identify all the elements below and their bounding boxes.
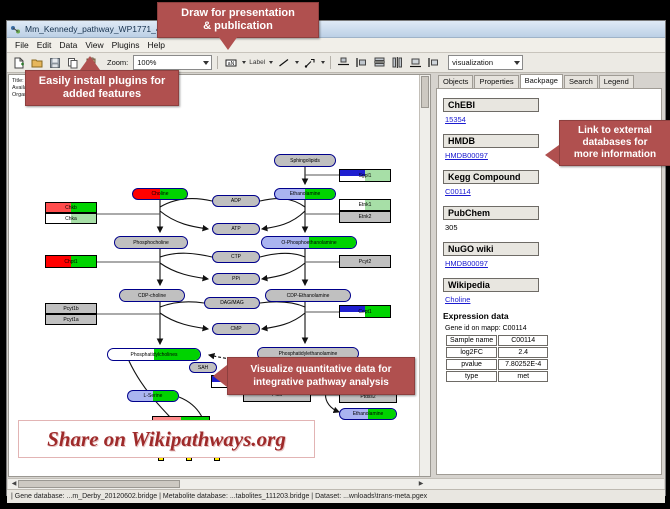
group-icon[interactable] — [426, 55, 441, 70]
backpage-link-wikipedia[interactable]: Choline — [445, 295, 655, 304]
gene-box-cept1[interactable]: Cept1 — [339, 305, 391, 318]
node-ppi[interactable]: PPi — [212, 273, 260, 285]
tab-objects[interactable]: Objects — [438, 75, 473, 88]
node-label: CDP-choline — [138, 293, 166, 299]
node-atp[interactable]: ATP — [212, 223, 260, 235]
chevron-down-icon — [514, 61, 520, 65]
node-label: CTP — [231, 254, 241, 260]
align-left-icon[interactable] — [354, 55, 369, 70]
gene-box-chpt1[interactable]: Chpt1 — [45, 255, 97, 268]
gene-box-pcyt2[interactable]: Pcyt2 — [339, 255, 391, 268]
gene-label: Etnk2 — [359, 214, 372, 220]
node-l-serine-left[interactable]: L-Serine — [127, 390, 179, 402]
backpage-value-pubchem: 305 — [445, 223, 655, 232]
svg-text:aN: aN — [228, 61, 235, 67]
backpage-header-wikipedia: Wikipedia — [443, 278, 539, 292]
callout-visualize-tail — [213, 365, 227, 387]
backpage-header-pubchem: PubChem — [443, 206, 539, 220]
cell-value: 2.4 — [498, 347, 548, 358]
cell-key: type — [446, 371, 497, 382]
arrow-dropdown-icon[interactable] — [321, 61, 325, 64]
gene-id-line: Gene id on mapp: C00114 — [445, 325, 655, 332]
node-cdp-ethanolamine[interactable]: CDP-Ethanolamine — [265, 289, 351, 302]
distribute-vertical-icon[interactable] — [372, 55, 387, 70]
node-label: CDP-Ethanolamine — [287, 293, 330, 299]
gene-label: Sgpl1 — [359, 173, 372, 179]
gene-label: Pcyt2 — [359, 259, 372, 265]
backpage-link-kegg[interactable]: C00114 — [445, 187, 655, 196]
node-label: Choline — [152, 191, 169, 197]
tab-properties[interactable]: Properties — [474, 75, 518, 88]
backpage-header-nugo: NuGO wiki — [443, 242, 539, 256]
node-label: Ethanolamine — [353, 411, 384, 417]
menu-file[interactable]: File — [11, 40, 33, 50]
gene-box-sgpl1[interactable]: Sgpl1 — [339, 169, 391, 182]
node-label: PPi — [232, 276, 240, 282]
table-row: pvalue 7.80252E-4 — [446, 359, 548, 370]
pathway-canvas[interactable]: Title: Availa Organ — [8, 74, 431, 477]
node-choline-top[interactable]: Choline — [132, 188, 188, 200]
line-icon[interactable] — [276, 55, 291, 70]
toolbar-separator — [217, 56, 218, 69]
scroll-right-arrow[interactable]: ▶ — [416, 480, 426, 488]
node-ethanolamine-top[interactable]: Ethanolamine — [274, 188, 336, 200]
callout-link-tail — [545, 145, 559, 165]
cell-key: Sample name — [446, 335, 497, 346]
node-phosphocholine[interactable]: Phosphocholine — [114, 236, 188, 249]
expression-table: Sample name C00114 log2FC 2.4 pvalue 7.8… — [445, 334, 549, 383]
align-top-icon[interactable] — [336, 55, 351, 70]
gene-box-chka[interactable]: Chka — [45, 213, 97, 224]
node-label: CMP — [230, 326, 241, 332]
pathvisio-icon — [10, 24, 21, 35]
title-bar: Mm_Kennedy_pathway_WP1771_45176.gpml — [7, 21, 665, 38]
expression-data-title: Expression data — [443, 311, 655, 321]
cell-key: log2FC — [446, 347, 497, 358]
gene-label: Chpt1 — [64, 259, 77, 265]
callout-line-2: integrative pathway analysis — [230, 376, 412, 389]
callout-line-2: & publication — [160, 20, 316, 33]
callout-draw: Draw for presentation & publication — [157, 2, 319, 38]
toolbar-separator-2 — [330, 56, 331, 69]
gene-label: Etnk1 — [359, 202, 372, 208]
screenshot-root: Mm_Kennedy_pathway_WP1771_45176.gpml Fil… — [0, 0, 670, 509]
node-label: Ethanolamine — [290, 191, 321, 197]
callout-link-databases: Link to external databases for more info… — [559, 120, 670, 166]
menu-help[interactable]: Help — [144, 40, 169, 50]
canvas-vertical-scrollbar[interactable] — [419, 75, 430, 476]
gene-box-pcyt1a[interactable]: Pcyt1a — [45, 314, 97, 325]
datanode-dropdown-icon[interactable] — [242, 61, 246, 64]
canvas-horizontal-scrollbar[interactable]: ◀ ▶ — [8, 478, 664, 489]
backpage-header-kegg: Kegg Compound — [443, 170, 539, 184]
arrow-icon[interactable] — [302, 55, 317, 70]
node-dag-mag[interactable]: DAG/MAG — [204, 297, 260, 309]
menu-bar: File Edit Data View Plugins Help — [7, 38, 665, 53]
table-row: type met — [446, 371, 548, 382]
node-label: Sphingolipids — [290, 158, 320, 164]
backpage-link-nugo[interactable]: HMDB00097 — [445, 259, 655, 268]
datanode-icon[interactable]: aN — [223, 55, 238, 70]
label-dropdown-icon[interactable] — [269, 61, 273, 64]
node-cdp-choline[interactable]: CDP-choline — [119, 289, 185, 302]
node-phosphatidylcholines[interactable]: Phosphatidylcholines — [107, 348, 201, 361]
zoom-value: 100% — [137, 58, 156, 67]
side-panel-tabs: Objects Properties Backpage Search Legen… — [432, 74, 664, 88]
callout-line-1: Draw for presentation — [160, 7, 316, 20]
node-label: ATP — [231, 226, 240, 232]
canvas-vscroll-thumb[interactable] — [421, 76, 429, 108]
menu-data[interactable]: Data — [55, 40, 81, 50]
share-banner: Share on Wikipathways.org — [18, 420, 315, 458]
gene-box-pcyt1b[interactable]: Pcyt1b — [45, 303, 97, 314]
node-ethanolamine-right[interactable]: Ethanolamine — [339, 408, 397, 420]
distribute-horizontal-icon[interactable] — [390, 55, 405, 70]
menu-edit[interactable]: Edit — [33, 40, 56, 50]
save-icon[interactable] — [47, 55, 62, 70]
callout-visualize: Visualize quantitative data for integrat… — [227, 357, 415, 395]
zoom-label: Zoom: — [107, 58, 128, 67]
gene-label: Chkb — [65, 205, 77, 211]
gene-box-etnk1[interactable]: Etnk1 — [339, 199, 391, 211]
callout-line-3: more information — [562, 149, 668, 161]
tab-search[interactable]: Search — [564, 75, 598, 88]
cell-value: C00114 — [498, 335, 548, 346]
node-label: O-Phosphoethanolamine — [281, 240, 336, 246]
new-icon[interactable] — [11, 55, 26, 70]
open-folder-icon[interactable] — [29, 55, 44, 70]
label-tool-label[interactable]: Label — [249, 59, 265, 66]
node-cmp[interactable]: CMP — [212, 323, 260, 335]
menu-view[interactable]: View — [81, 40, 107, 50]
callout-line-1: Link to external — [562, 125, 668, 137]
callout-line-2: added features — [28, 88, 176, 101]
callout-plugins: Easily install plugins for added feature… — [25, 70, 179, 106]
gene-label: Pcyt1b — [63, 306, 78, 312]
visualization-combobox[interactable]: visualization — [448, 55, 523, 70]
node-adp[interactable]: ADP — [212, 195, 260, 207]
cell-value: 7.80252E-4 — [498, 359, 548, 370]
status-bar: | Gene database: ...m_Derby_20120602.bri… — [7, 489, 665, 503]
callout-plugins-tail — [80, 56, 100, 70]
callout-line-1: Easily install plugins for — [28, 75, 176, 88]
line-dropdown-icon[interactable] — [295, 61, 299, 64]
node-ctp[interactable]: CTP — [212, 251, 260, 263]
chevron-down-icon — [203, 61, 209, 65]
node-label: L-Serine — [144, 393, 163, 399]
tab-backpage[interactable]: Backpage — [520, 74, 563, 88]
node-label: ADP — [231, 198, 241, 204]
gene-box-chkb[interactable]: Chkb — [45, 202, 97, 213]
node-o-phosphoethanolamine[interactable]: O-Phosphoethanolamine — [261, 236, 357, 249]
canvas-hscroll-thumb[interactable] — [18, 480, 180, 488]
node-label: Phosphocholine — [133, 240, 169, 246]
table-row: log2FC 2.4 — [446, 347, 548, 358]
node-label: Phosphatidylethanolamine — [279, 351, 338, 357]
node-label: SAH — [198, 365, 208, 371]
gene-label: Chka — [65, 216, 77, 222]
zoom-combobox[interactable]: 100% — [133, 55, 212, 70]
status-text: | Gene database: ...m_Derby_20120602.bri… — [11, 493, 427, 500]
node-label: Phosphatidylcholines — [131, 352, 178, 358]
node-sphingolipids[interactable]: Sphingolipids — [274, 154, 336, 167]
share-banner-text: Share on Wikipathways.org — [47, 427, 286, 452]
node-label: DAG/MAG — [220, 300, 244, 306]
cell-key: pvalue — [446, 359, 497, 370]
same-width-icon[interactable] — [408, 55, 423, 70]
callout-draw-tail — [218, 36, 238, 50]
callout-line-1: Visualize quantitative data for — [230, 363, 412, 376]
gene-label: Pcyt1a — [63, 317, 78, 323]
cell-value: met — [498, 371, 548, 382]
gene-box-etnk2[interactable]: Etnk2 — [339, 211, 391, 223]
callout-line-2: databases for — [562, 137, 668, 149]
table-row: Sample name C00114 — [446, 335, 548, 346]
visualization-value: visualization — [452, 58, 493, 67]
menu-plugins[interactable]: Plugins — [108, 40, 144, 50]
pathway-drawing: Title: Availa Organ — [9, 75, 430, 476]
tab-legend[interactable]: Legend — [599, 75, 634, 88]
backpage-header-chebi: ChEBI — [443, 98, 539, 112]
copy-icon[interactable] — [65, 55, 80, 70]
backpage-header-hmdb: HMDB — [443, 134, 539, 148]
gene-label: Cept1 — [358, 309, 371, 315]
